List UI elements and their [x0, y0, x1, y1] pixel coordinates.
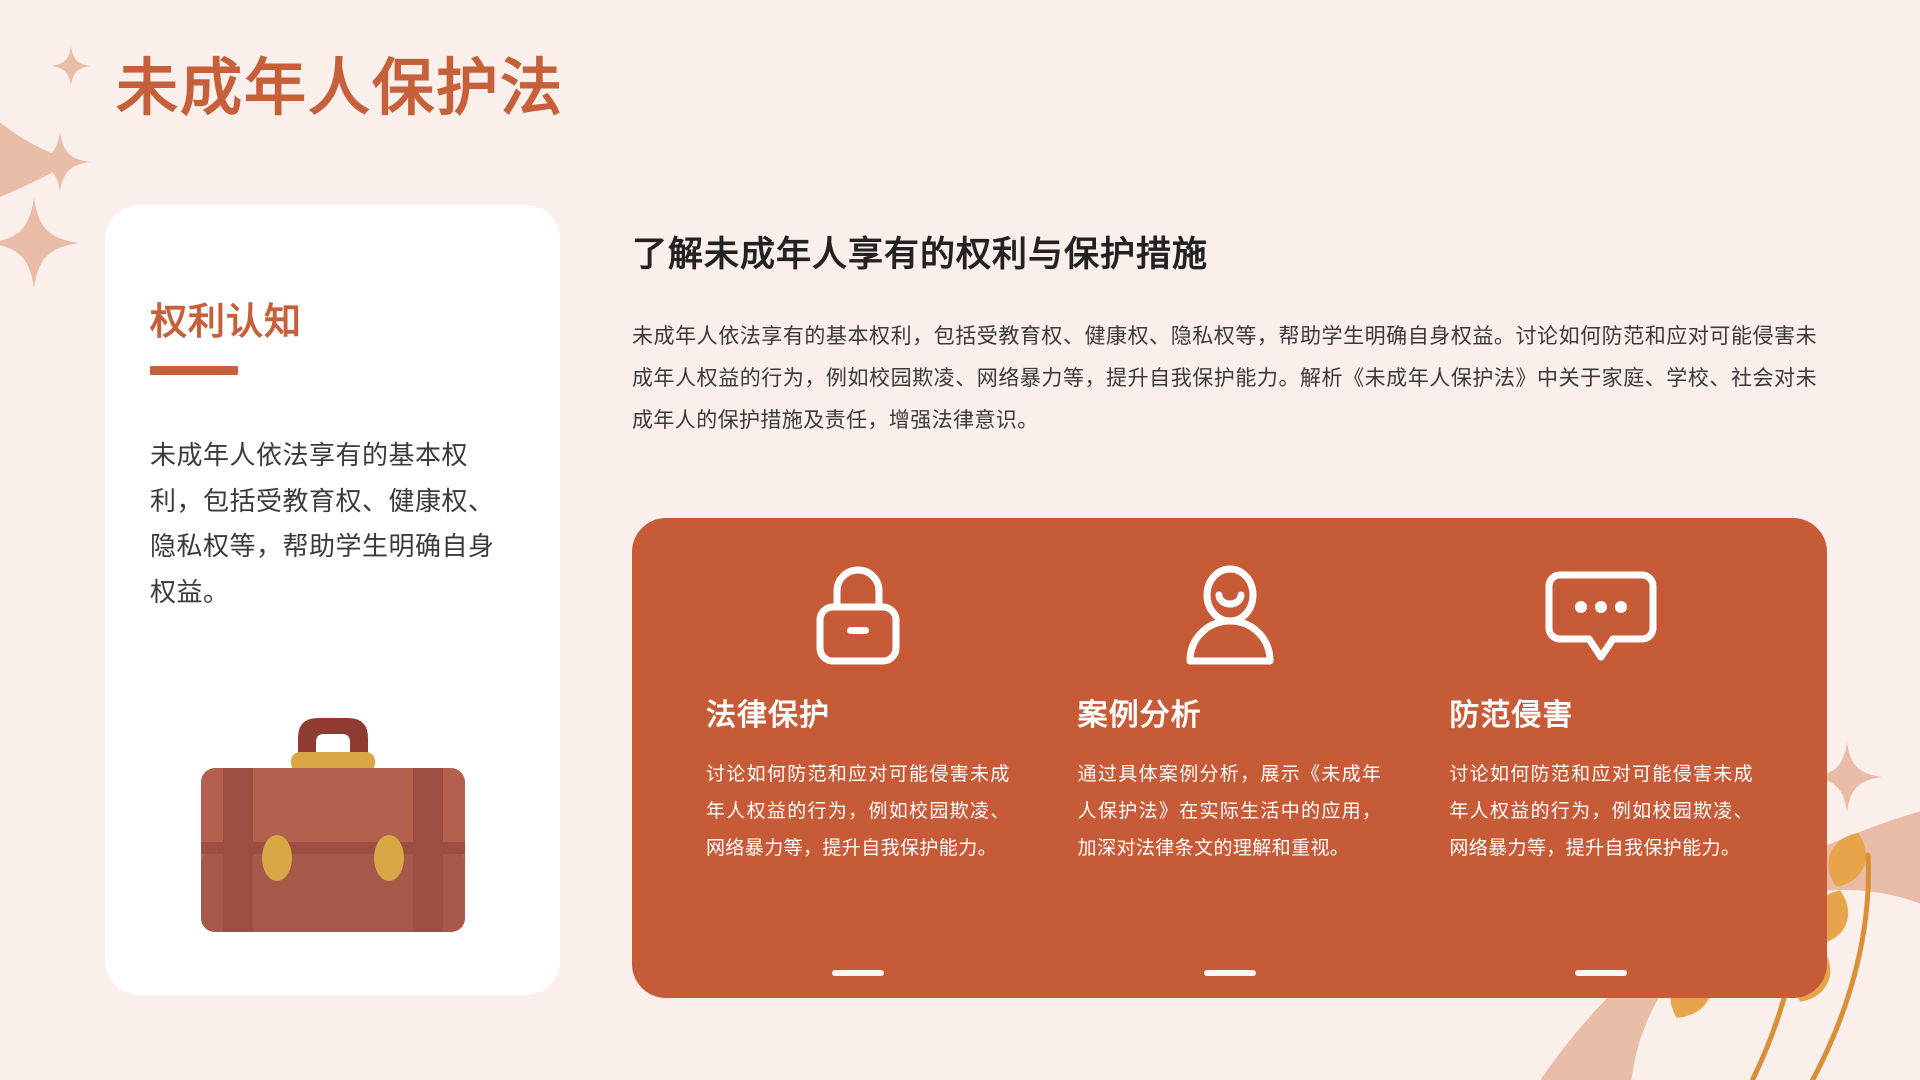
feature-card-harm-prevention[interactable]: 防范侵害 讨论如何防范和应对可能侵害未成年人权益的行为，例如校园欺凌、网络暴力等… [1415, 563, 1787, 998]
feature-panel: 法律保护 讨论如何防范和应对可能侵害未成年人权益的行为，例如校园欺凌、网络暴力等… [632, 518, 1827, 998]
feature-divider [832, 970, 884, 976]
left-card-underline [150, 366, 238, 375]
slide-canvas: 未成年人保护法 权利认知 未成年人依法享有的基本权利，包括受教育权、健康权、隐私… [0, 0, 1920, 1080]
feature-card-case-analysis[interactable]: 案例分析 通过具体案例分析，展示《未成年人保护法》在实际生活中的应用，加深对法律… [1044, 563, 1416, 998]
feature-divider [1204, 970, 1256, 976]
feature-card-legal-protection[interactable]: 法律保护 讨论如何防范和应对可能侵害未成年人权益的行为，例如校园欺凌、网络暴力等… [672, 563, 1044, 998]
section-title: 了解未成年人享有的权利与保护措施 [632, 232, 1827, 278]
feature-body: 讨论如何防范和应对可能侵害未成年人权益的行为，例如校园欺凌、网络暴力等，提升自我… [1449, 756, 1753, 867]
briefcase-illustration [195, 692, 471, 947]
person-icon [1078, 563, 1382, 668]
left-card-body: 未成年人依法享有的基本权利，包括受教育权、健康权、隐私权等，帮助学生明确自身权益… [150, 433, 515, 615]
feature-title: 法律保护 [706, 690, 830, 734]
page-title: 未成年人保护法 [116, 55, 564, 123]
lock-icon [706, 563, 1010, 668]
sparkle-icon [0, 195, 82, 291]
rights-awareness-card: 权利认知 未成年人依法享有的基本权利，包括受教育权、健康权、隐私权等，帮助学生明… [105, 205, 560, 995]
main-content-column: 了解未成年人享有的权利与保护措施 未成年人依法享有的基本权利，包括受教育权、健康… [632, 232, 1827, 442]
left-card-heading: 权利认知 [150, 300, 515, 344]
feature-divider [1575, 970, 1627, 976]
feature-title: 案例分析 [1078, 690, 1202, 734]
feature-body: 讨论如何防范和应对可能侵害未成年人权益的行为，例如校园欺凌、网络暴力等，提升自我… [706, 756, 1010, 867]
feature-title: 防范侵害 [1449, 690, 1573, 734]
section-body: 未成年人依法享有的基本权利，包括受教育权、健康权、隐私权等，帮助学生明确自身权益… [632, 316, 1817, 442]
speech-bubble-icon [1449, 563, 1753, 668]
feature-body: 通过具体案例分析，展示《未成年人保护法》在实际生活中的应用，加深对法律条文的理解… [1078, 756, 1382, 867]
